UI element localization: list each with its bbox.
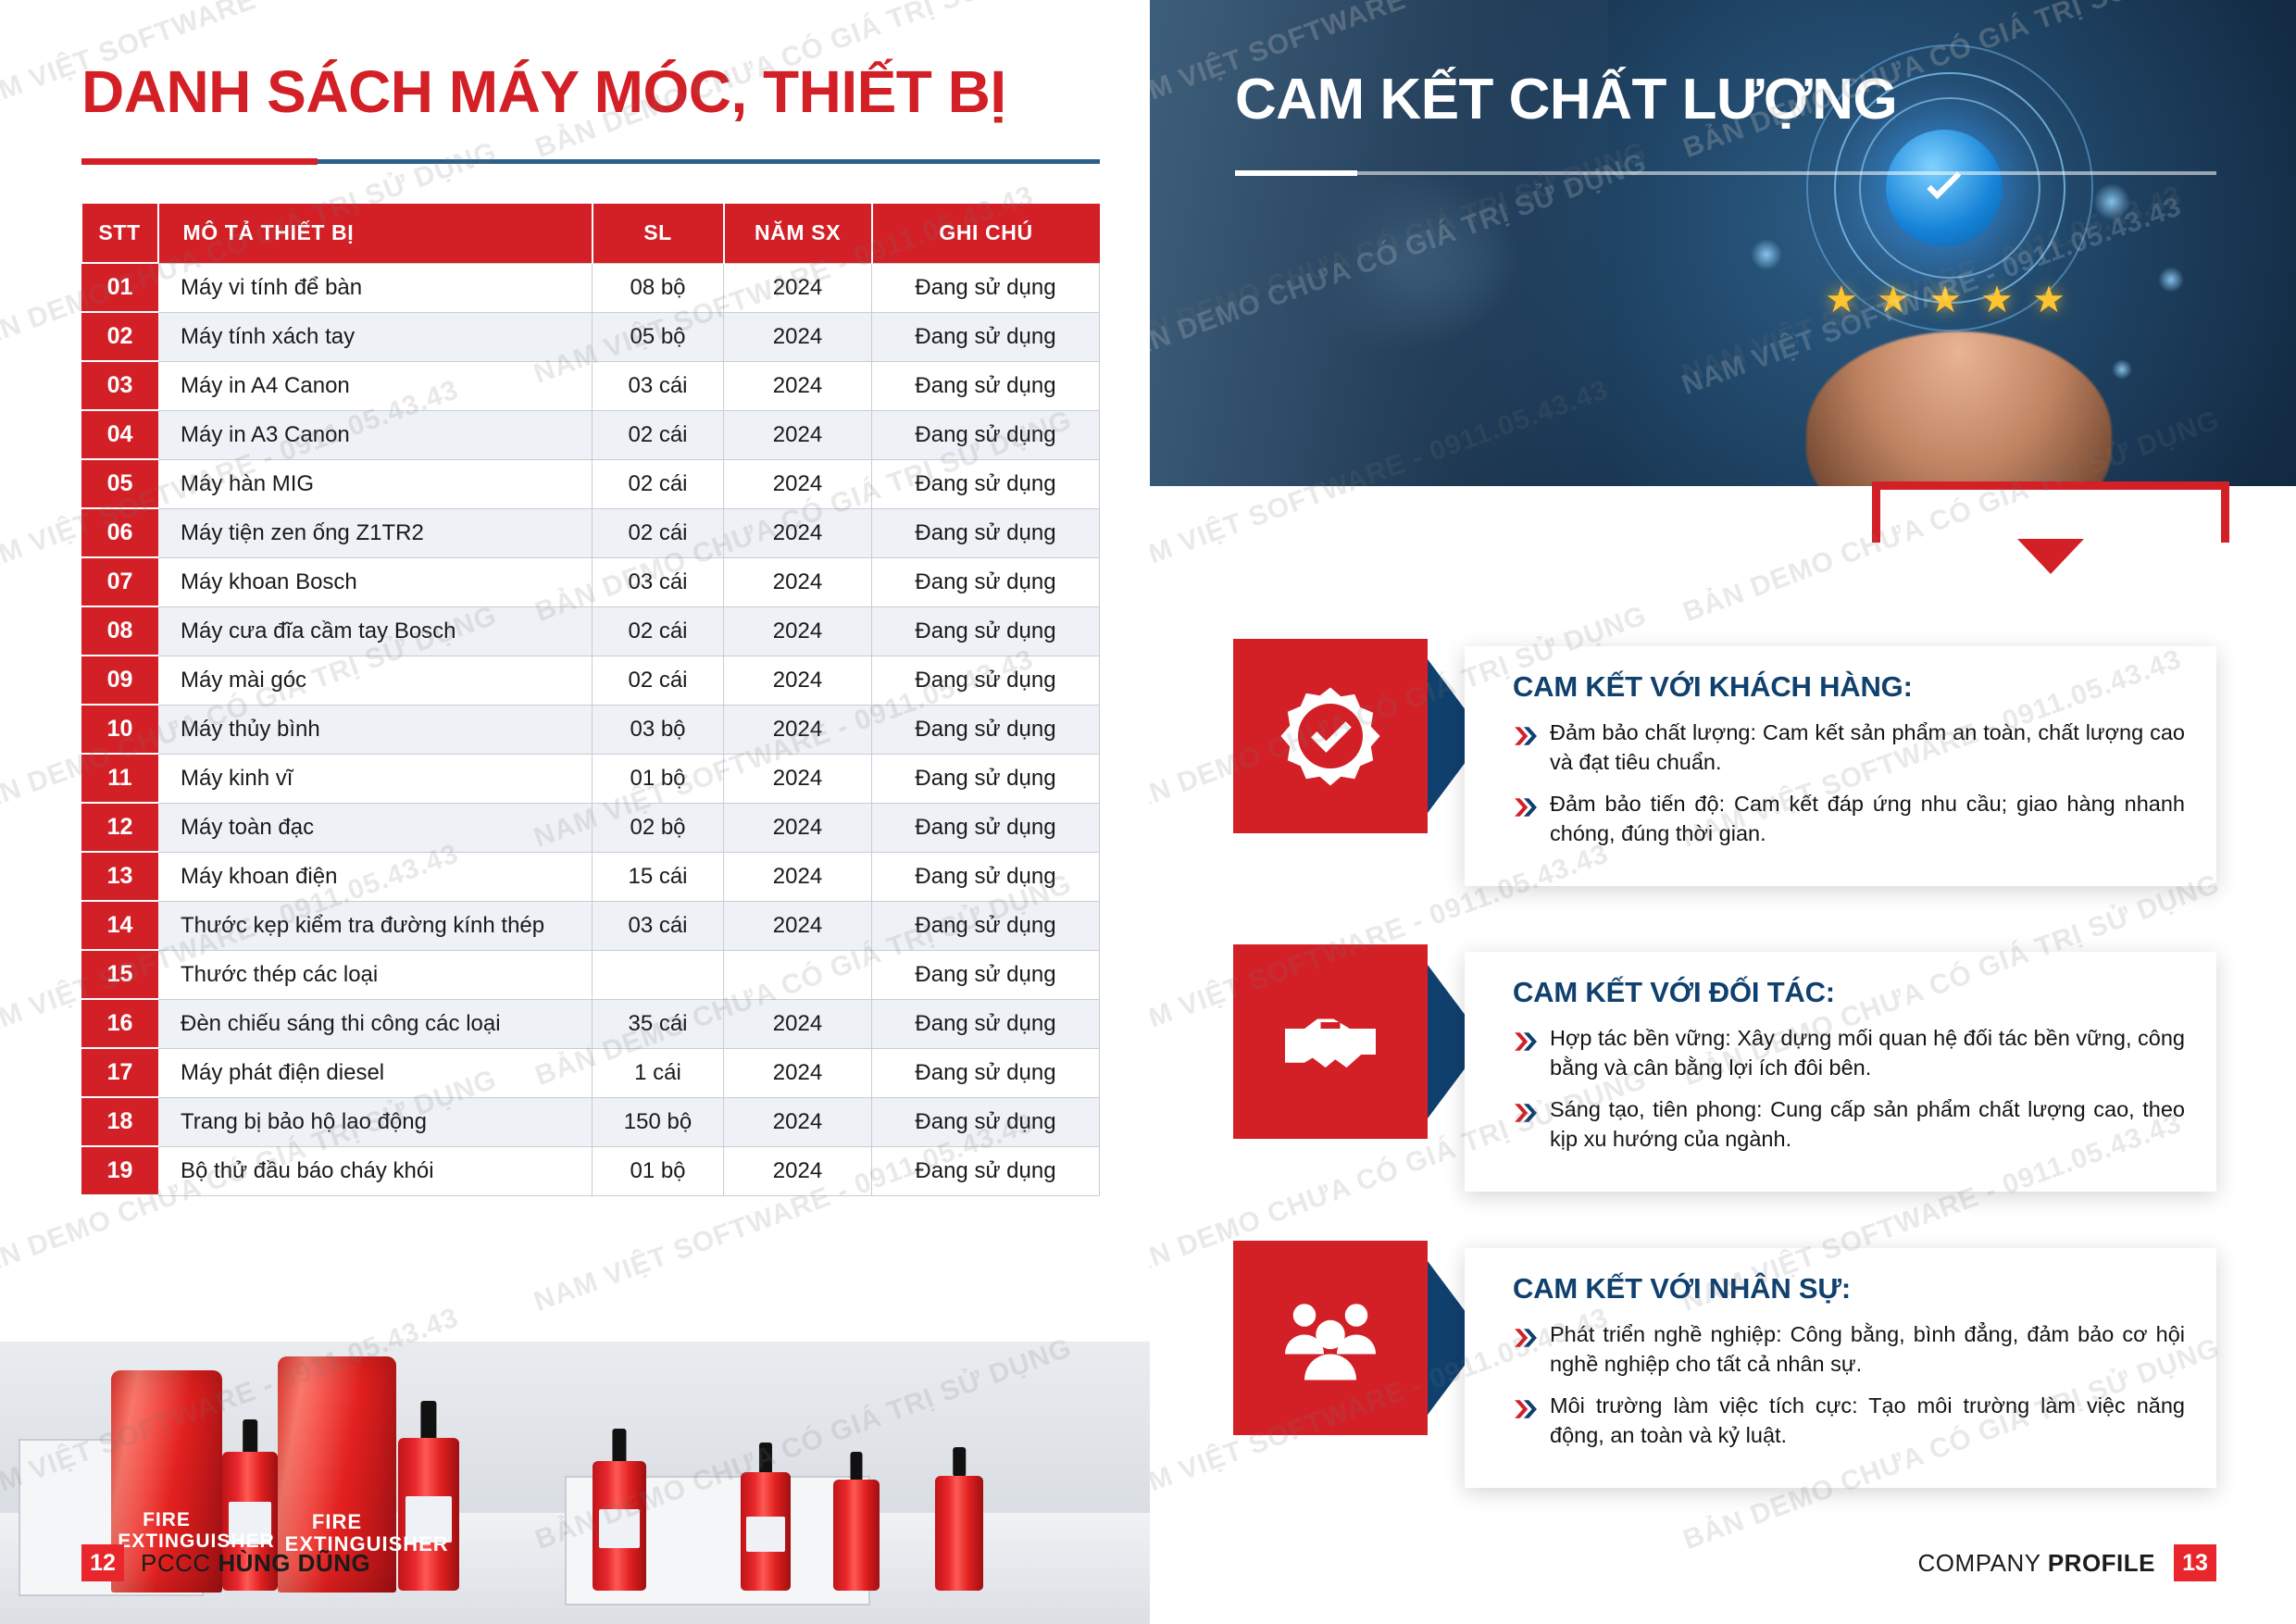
table-row: 18Trang bị bảo hộ lao động150 bộ2024Đang… [82,1097,1100,1146]
cell-stt: 08 [82,606,158,656]
cell-description: Máy kinh vĩ [158,754,593,803]
pointer-bracket [1872,481,2229,563]
commitment-title: CAM KẾT VỚI KHÁCH HÀNG: [1513,670,2185,704]
commitment-item: Phát triển nghề nghiệp: Công bằng, bình … [1513,1320,2185,1379]
cell-note: Đang sử dụng [872,508,1100,557]
cell-quantity: 02 bộ [593,803,724,852]
cell-description: Máy cưa đĩa cầm tay Bosch [158,606,593,656]
cell-quantity: 03 cái [593,361,724,410]
table-row: 04Máy in A3 Canon02 cái2024Đang sử dụng [82,410,1100,459]
check-seal-icon [1233,639,1428,833]
cell-quantity: 02 cái [593,508,724,557]
watermark-text: BẢN DEMO CHƯA CÓ GIÁ TRỊ SỬ DỤNG [1150,147,1651,371]
cell-description: Máy phát điện diesel [158,1048,593,1097]
footer-company-label: COMPANY [1918,1549,2048,1577]
cell-stt: 07 [82,557,158,606]
handshake-icon [1233,944,1428,1139]
cell-description: Máy thủy bình [158,705,593,754]
double-chevron-icon [1513,790,1537,848]
cell-stt: 01 [82,263,158,312]
cell-year: 2024 [724,705,872,754]
bracket-arrow-icon [2017,539,2084,574]
table-row: 01Máy vi tính để bàn08 bộ2024Đang sử dụn… [82,263,1100,312]
cell-quantity: 02 cái [593,410,724,459]
extinguisher-6 [935,1447,983,1591]
commitment-card: CAM KẾT VỚI KHÁCH HÀNG: Đảm bảo chất lượ… [1465,646,2216,886]
table-row: 14Thước kẹp kiểm tra đường kính thép03 c… [82,901,1100,950]
cell-year: 2024 [724,557,872,606]
cell-description: Máy tiện zen ống Z1TR2 [158,508,593,557]
star-1: ★ [1825,279,1858,321]
cell-description: Thước kẹp kiểm tra đường kính thép [158,901,593,950]
cell-note: Đang sử dụng [872,1146,1100,1195]
cell-quantity: 01 bộ [593,1146,724,1195]
cell-year: 2024 [724,754,872,803]
cell-quantity: 01 bộ [593,754,724,803]
commitment-card: CAM KẾT VỚI ĐỐI TÁC: Hợp tác bền vững: X… [1465,952,2216,1192]
table-row: 13Máy khoan điện15 cái2024Đang sử dụng [82,852,1100,901]
cell-year [724,950,872,999]
cell-description: Máy khoan điện [158,852,593,901]
cell-quantity [593,950,724,999]
double-chevron-icon [1513,1024,1537,1082]
commitment-block-partners: CAM KẾT VỚI ĐỐI TÁC: Hợp tác bền vững: X… [1150,944,2296,1176]
cell-stt: 12 [82,803,158,852]
cell-description: Máy in A4 Canon [158,361,593,410]
brochure-spread: DANH SÁCH MÁY MÓC, THIẾT BỊ STT MÔ TẢ TH… [0,0,2296,1624]
bokeh-2 [2158,267,2184,293]
cell-quantity: 03 cái [593,557,724,606]
extinguisher-2 [398,1401,459,1591]
cell-stt: 10 [82,705,158,754]
cell-description: Máy toàn đạc [158,803,593,852]
cell-note: Đang sử dụng [872,950,1100,999]
commitment-block-customers: CAM KẾT VỚI KHÁCH HÀNG: Đảm bảo chất lượ… [1150,639,2296,870]
cell-stt: 13 [82,852,158,901]
cell-note: Đang sử dụng [872,312,1100,361]
equipment-table: STT MÔ TẢ THIẾT BỊ SL NĂM SX GHI CHÚ 01M… [81,204,1100,1196]
table-row: 15Thước thép các loạiĐang sử dụng [82,950,1100,999]
cell-stt: 17 [82,1048,158,1097]
cell-quantity: 02 cái [593,606,724,656]
extinguisher-5 [833,1452,880,1591]
cell-stt: 19 [82,1146,158,1195]
cell-stt: 15 [82,950,158,999]
cell-year: 2024 [724,361,872,410]
cell-year: 2024 [724,263,872,312]
people-group-icon [1233,1241,1428,1435]
commitment-item: Đảm bảo chất lượng: Cam kết sản phẩm an … [1513,718,2185,777]
bokeh-3 [1751,239,1782,270]
commitment-title: CAM KẾT VỚI NHÂN SỰ: [1513,1272,2185,1305]
cell-note: Đang sử dụng [872,803,1100,852]
commitment-item: Hợp tác bền vững: Xây dựng mối quan hệ đ… [1513,1024,2185,1082]
table-header-row: STT MÔ TẢ THIẾT BỊ SL NĂM SX GHI CHÚ [82,204,1100,263]
cell-note: Đang sử dụng [872,361,1100,410]
hero-rule [1235,171,2216,175]
cell-year: 2024 [724,901,872,950]
commitment-item-text: Đảm bảo tiến độ: Cam kết đáp ứng nhu cầu… [1550,790,2185,848]
table-row: 06Máy tiện zen ống Z1TR202 cái2024Đang s… [82,508,1100,557]
table-row: 07Máy khoan Bosch03 cái2024Đang sử dụng [82,557,1100,606]
table-row: 10Máy thủy bình03 bộ2024Đang sử dụng [82,705,1100,754]
bokeh-4 [2112,359,2132,380]
bracket-right-bar [2221,481,2229,543]
cell-stt: 09 [82,656,158,705]
cell-description: Máy mài góc [158,656,593,705]
cell-note: Đang sử dụng [872,656,1100,705]
fire-extinguisher-photo: FIRE EXTINGUISHER FIRE EXTINGUISHER [0,1342,1150,1624]
cell-stt: 18 [82,1097,158,1146]
cell-description: Máy khoan Bosch [158,557,593,606]
cell-quantity: 03 cái [593,901,724,950]
cell-stt: 16 [82,999,158,1048]
hero-title: CAM KẾT CHẤT LƯỢNG [1235,67,1897,132]
star-4: ★ [1980,279,2014,321]
cell-description: Trang bị bảo hộ lao động [158,1097,593,1146]
bracket-top-bar [1872,481,2229,490]
commitment-block-personnel: CAM KẾT VỚI NHÂN SỰ: Phát triển nghề ngh… [1150,1241,2296,1472]
commitment-item-text: Sáng tạo, tiên phong: Cung cấp sản phẩm … [1550,1095,2185,1154]
cell-note: Đang sử dụng [872,901,1100,950]
commitment-item-text: Hợp tác bền vững: Xây dựng mối quan hệ đ… [1550,1024,2185,1082]
cell-note: Đang sử dụng [872,999,1100,1048]
cell-stt: 05 [82,459,158,508]
cell-description: Máy vi tính để bàn [158,263,593,312]
cell-stt: 04 [82,410,158,459]
commitment-item-text: Phát triển nghề nghiệp: Công bằng, bình … [1550,1320,2185,1379]
rating-stars: ★ ★ ★ ★ ★ [1825,279,2065,321]
commitment-item: Môi trường làm việc tích cực: Tạo môi tr… [1513,1392,2185,1450]
cell-description: Bộ thử đầu báo cháy khói [158,1146,593,1195]
cell-year: 2024 [724,852,872,901]
hand-graphic [1806,331,2112,486]
cell-note: Đang sử dụng [872,1097,1100,1146]
table-row: 05Máy hàn MIG02 cái2024Đang sử dụng [82,459,1100,508]
cell-year: 2024 [724,1048,872,1097]
cell-stt: 06 [82,508,158,557]
table-row: 03Máy in A4 Canon03 cái2024Đang sử dụng [82,361,1100,410]
cell-quantity: 15 cái [593,852,724,901]
title-rule [81,159,1100,164]
right-page: ★ ★ ★ ★ ★ CAM KẾT CHẤT LƯỢNG NAM VIỆT SO… [1150,0,2296,1624]
commitment-title: CAM KẾT VỚI ĐỐI TÁC: [1513,976,2185,1009]
cell-quantity: 02 cái [593,459,724,508]
cell-note: Đang sử dụng [872,754,1100,803]
extinguisher-3 [593,1429,646,1591]
right-page-footer: COMPANY PROFILE 13 [1918,1544,2216,1581]
col-header-note: GHI CHÚ [872,204,1100,263]
commitment-item-text: Môi trường làm việc tích cực: Tạo môi tr… [1550,1392,2185,1450]
col-header-year: NĂM SX [724,204,872,263]
cell-year: 2024 [724,606,872,656]
cell-quantity: 08 bộ [593,263,724,312]
double-chevron-icon [1513,1320,1537,1379]
double-chevron-icon [1513,718,1537,777]
table-row: 16Đèn chiếu sáng thi công các loại35 cái… [82,999,1100,1048]
cell-stt: 11 [82,754,158,803]
double-chevron-icon [1513,1392,1537,1450]
double-chevron-icon [1513,1095,1537,1154]
cell-note: Đang sử dụng [872,606,1100,656]
cell-year: 2024 [724,656,872,705]
cell-description: Máy hàn MIG [158,459,593,508]
col-header-stt: STT [82,204,158,263]
cell-quantity: 02 cái [593,656,724,705]
cell-note: Đang sử dụng [872,1048,1100,1097]
extinguisher-4 [741,1443,791,1591]
cell-note: Đang sử dụng [872,852,1100,901]
footer-brand-prefix: PCCC [141,1549,218,1577]
table-row: 19Bộ thử đầu báo cháy khói01 bộ2024Đang … [82,1146,1100,1195]
star-2: ★ [1877,279,1910,321]
table-row: 02Máy tính xách tay05 bộ2024Đang sử dụng [82,312,1100,361]
commitment-item: Sáng tạo, tiên phong: Cung cấp sản phẩm … [1513,1095,2185,1154]
table-row: 11Máy kinh vĩ01 bộ2024Đang sử dụng [82,754,1100,803]
table-row: 12Máy toàn đạc02 bộ2024Đang sử dụng [82,803,1100,852]
cell-note: Đang sử dụng [872,459,1100,508]
cell-note: Đang sử dụng [872,263,1100,312]
cell-note: Đang sử dụng [872,557,1100,606]
cell-description: Máy tính xách tay [158,312,593,361]
cell-stt: 14 [82,901,158,950]
cell-description: Thước thép các loại [158,950,593,999]
cell-quantity: 1 cái [593,1048,724,1097]
cell-year: 2024 [724,508,872,557]
cell-description: Đèn chiếu sáng thi công các loại [158,999,593,1048]
commitment-item-text: Đảm bảo chất lượng: Cam kết sản phẩm an … [1550,718,2185,777]
footer-company-profile: COMPANY PROFILE [1918,1549,2155,1578]
page-number-right: 13 [2174,1544,2216,1581]
cell-year: 2024 [724,312,872,361]
hero-glow [1261,167,1520,352]
commitment-card: CAM KẾT VỚI NHÂN SỰ: Phát triển nghề ngh… [1465,1248,2216,1488]
cell-note: Đang sử dụng [872,705,1100,754]
footer-brand-bold: HÙNG DŨNG [218,1549,370,1577]
commitment-item: Đảm bảo tiến độ: Cam kết đáp ứng nhu cầu… [1513,790,2185,848]
cell-quantity: 150 bộ [593,1097,724,1146]
cell-stt: 02 [82,312,158,361]
page-number-left: 12 [81,1544,124,1581]
cell-description: Máy in A3 Canon [158,410,593,459]
table-row: 17Máy phát điện diesel1 cái2024Đang sử d… [82,1048,1100,1097]
cell-quantity: 35 cái [593,999,724,1048]
cell-year: 2024 [724,803,872,852]
cell-quantity: 05 bộ [593,312,724,361]
col-header-description: MÔ TẢ THIẾT BỊ [158,204,593,263]
cell-year: 2024 [724,999,872,1048]
table-body: 01Máy vi tính để bàn08 bộ2024Đang sử dụn… [82,263,1100,1195]
cell-note: Đang sử dụng [872,410,1100,459]
cell-year: 2024 [724,1146,872,1195]
col-header-quantity: SL [593,204,724,263]
bracket-left-bar [1872,481,1880,543]
left-page: DANH SÁCH MÁY MÓC, THIẾT BỊ STT MÔ TẢ TH… [0,0,1150,1624]
page-title: DANH SÁCH MÁY MÓC, THIẾT BỊ [81,57,1006,126]
table-row: 08Máy cưa đĩa cầm tay Bosch02 cái2024Đan… [82,606,1100,656]
footer-brand: PCCC HÙNG DŨNG [141,1549,370,1578]
star-3: ★ [1928,279,1962,321]
cell-year: 2024 [724,1097,872,1146]
verified-badge-icon [1886,130,2003,246]
cell-stt: 03 [82,361,158,410]
footer-profile-label: PROFILE [2048,1549,2155,1577]
bokeh-1 [2093,183,2130,220]
cell-quantity: 03 bộ [593,705,724,754]
cell-year: 2024 [724,410,872,459]
star-5: ★ [2032,279,2065,321]
table-row: 09Máy mài góc02 cái2024Đang sử dụng [82,656,1100,705]
cell-year: 2024 [724,459,872,508]
left-page-footer: 12 PCCC HÙNG DŨNG [81,1544,370,1581]
hero-banner: ★ ★ ★ ★ ★ CAM KẾT CHẤT LƯỢNG NAM VIỆT SO… [1150,0,2296,486]
